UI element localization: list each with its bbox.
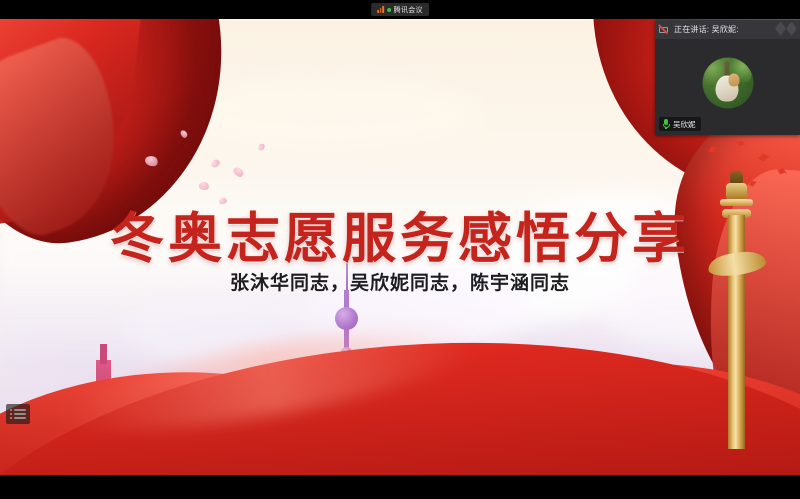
slide-subtitle: 张沐华同志，吴欣妮同志，陈宇涵同志 xyxy=(0,268,800,295)
video-panel-body[interactable]: 吴欣妮 xyxy=(655,39,800,135)
slide-title: 冬奥志愿服务感悟分享 xyxy=(0,194,800,273)
active-speaker-label: 正在讲话: 吴欣妮: xyxy=(674,24,739,35)
widget-row xyxy=(10,417,26,419)
bullet-icon xyxy=(10,409,12,411)
meeting-app-label: 腾讯会议 xyxy=(394,5,423,15)
building-spire xyxy=(100,344,107,364)
participant-video-panel[interactable]: 正在讲话: 吴欣妮: 吴欣妮 xyxy=(655,20,800,135)
bottom-letterbox-bar xyxy=(0,475,800,499)
widget-row xyxy=(10,413,26,415)
bar-icon xyxy=(14,413,26,415)
bullet-icon xyxy=(10,413,12,415)
screen-root: 冬奥志愿服务感悟分享 张沐华同志，吴欣妮同志，陈宇涵同志 腾讯会议 正在讲话: … xyxy=(0,0,800,499)
bar-icon xyxy=(14,417,26,419)
oriental-pearl-sphere-top xyxy=(335,307,358,330)
meeting-status-pill[interactable]: 腾讯会议 xyxy=(371,3,429,16)
top-letterbox-bar: 腾讯会议 xyxy=(0,0,800,19)
participant-name: 吴欣妮 xyxy=(673,119,696,130)
cloud xyxy=(180,79,480,149)
bullet-icon xyxy=(10,417,12,419)
dove-icon xyxy=(757,153,771,163)
flower-petal xyxy=(210,158,221,169)
signal-bars-icon xyxy=(377,6,384,13)
bar-icon xyxy=(14,409,26,411)
camera-off-icon[interactable] xyxy=(659,24,670,35)
video-panel-header: 正在讲话: 吴欣妮: xyxy=(655,20,800,39)
widget-row xyxy=(10,409,26,411)
avatar xyxy=(702,58,753,109)
microphone-on-icon xyxy=(662,119,670,129)
floating-controls-widget[interactable] xyxy=(6,404,30,424)
avatar-dog-head xyxy=(729,74,740,86)
collapse-panel-icon[interactable] xyxy=(776,24,796,33)
green-status-dot-icon xyxy=(387,8,391,12)
participant-name-tag: 吴欣妮 xyxy=(659,117,701,131)
